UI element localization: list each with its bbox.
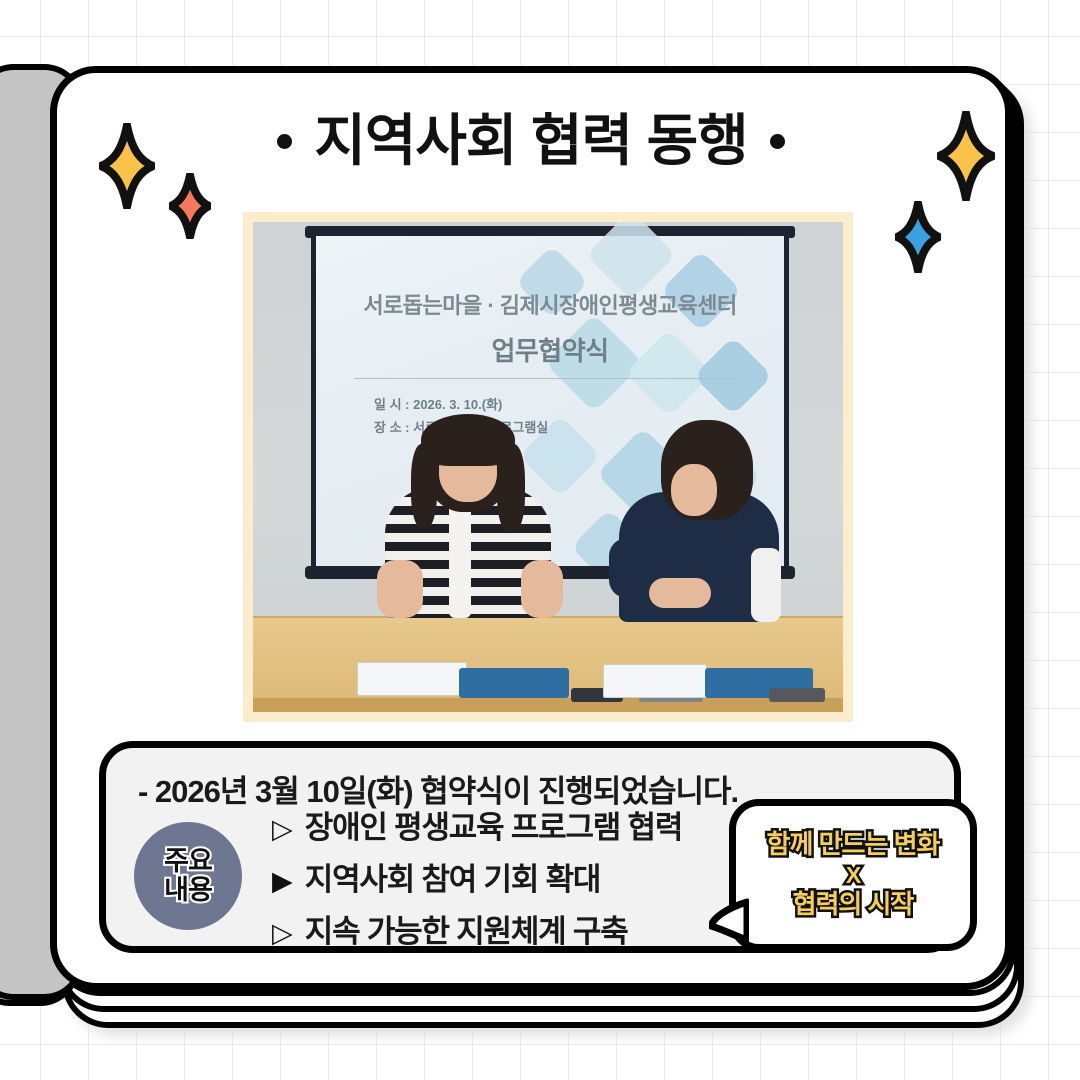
- bubble-line-3: 협력의 시작: [793, 890, 914, 920]
- list-item: ▶ 지역사회 참여 기회 확대: [272, 864, 682, 916]
- title-bullet-left-icon: [277, 134, 292, 149]
- sparkle-blue-right-icon: [895, 201, 941, 273]
- speech-bubble-tail-icon: [709, 898, 749, 942]
- bullet-marker-icon: ▶: [272, 868, 293, 895]
- title-text: 지역사회 협력 동행: [314, 113, 747, 169]
- bullet-list: ▷ 장애인 평생교육 프로그램 협력 ▶ 지역사회 참여 기회 확대 ▷ 지속 …: [272, 812, 682, 968]
- bubble-line-2: X: [846, 862, 860, 888]
- photo-table-edge: [253, 698, 843, 712]
- photo-document-left: [357, 662, 467, 696]
- poster-canvas: 지역사회 협력 동행: [0, 0, 1080, 1080]
- bullet-label: 지속 가능한 지원체계 구축: [305, 916, 628, 947]
- photo-person-right: [609, 420, 789, 620]
- sparkle-coral-left-icon: [169, 173, 211, 239]
- photo-folder-left: [459, 668, 569, 698]
- bullet-marker-icon: ▷: [272, 816, 293, 843]
- list-item: ▷ 지속 가능한 지원체계 구축: [272, 916, 682, 968]
- list-item: ▷ 장애인 평생교육 프로그램 협력: [272, 812, 682, 864]
- slide-title-line1: 서로돕는마을 · 김제시장애인평생교육센터: [316, 288, 784, 320]
- slide-title-line2: 업무협약식: [316, 331, 784, 368]
- bullet-marker-icon: ▷: [272, 920, 293, 947]
- bubble-line-1: 함께 만드는 변화: [767, 830, 940, 860]
- badge-line1: 주요: [164, 847, 212, 876]
- speech-bubble: 함께 만드는 변화 X 협력의 시작: [729, 799, 977, 951]
- photo-person-left: [373, 410, 563, 620]
- photo-document-right: [603, 664, 707, 698]
- info-headline: - 2026년 3월 10일(화) 협약식이 진행되었습니다.: [138, 766, 738, 811]
- slide-divider: [354, 378, 738, 379]
- event-photo: 서로돕는마을 · 김제시장애인평생교육센터 업무협약식 일 시 : 2026. …: [253, 222, 843, 712]
- main-content-badge: 주요 내용: [134, 822, 242, 930]
- main-card: 지역사회 협력 동행: [50, 66, 1012, 990]
- badge-line2: 내용: [164, 876, 212, 905]
- title-bullet-right-icon: [770, 134, 785, 149]
- photo-frame: 서로돕는마을 · 김제시장애인평생교육센터 업무협약식 일 시 : 2026. …: [243, 212, 853, 722]
- bullet-label: 장애인 평생교육 프로그램 협력: [305, 812, 682, 843]
- bullet-label: 지역사회 참여 기회 확대: [305, 864, 600, 895]
- photo-gadget-right: [769, 688, 825, 702]
- page-title: 지역사회 협력 동행: [57, 113, 1005, 169]
